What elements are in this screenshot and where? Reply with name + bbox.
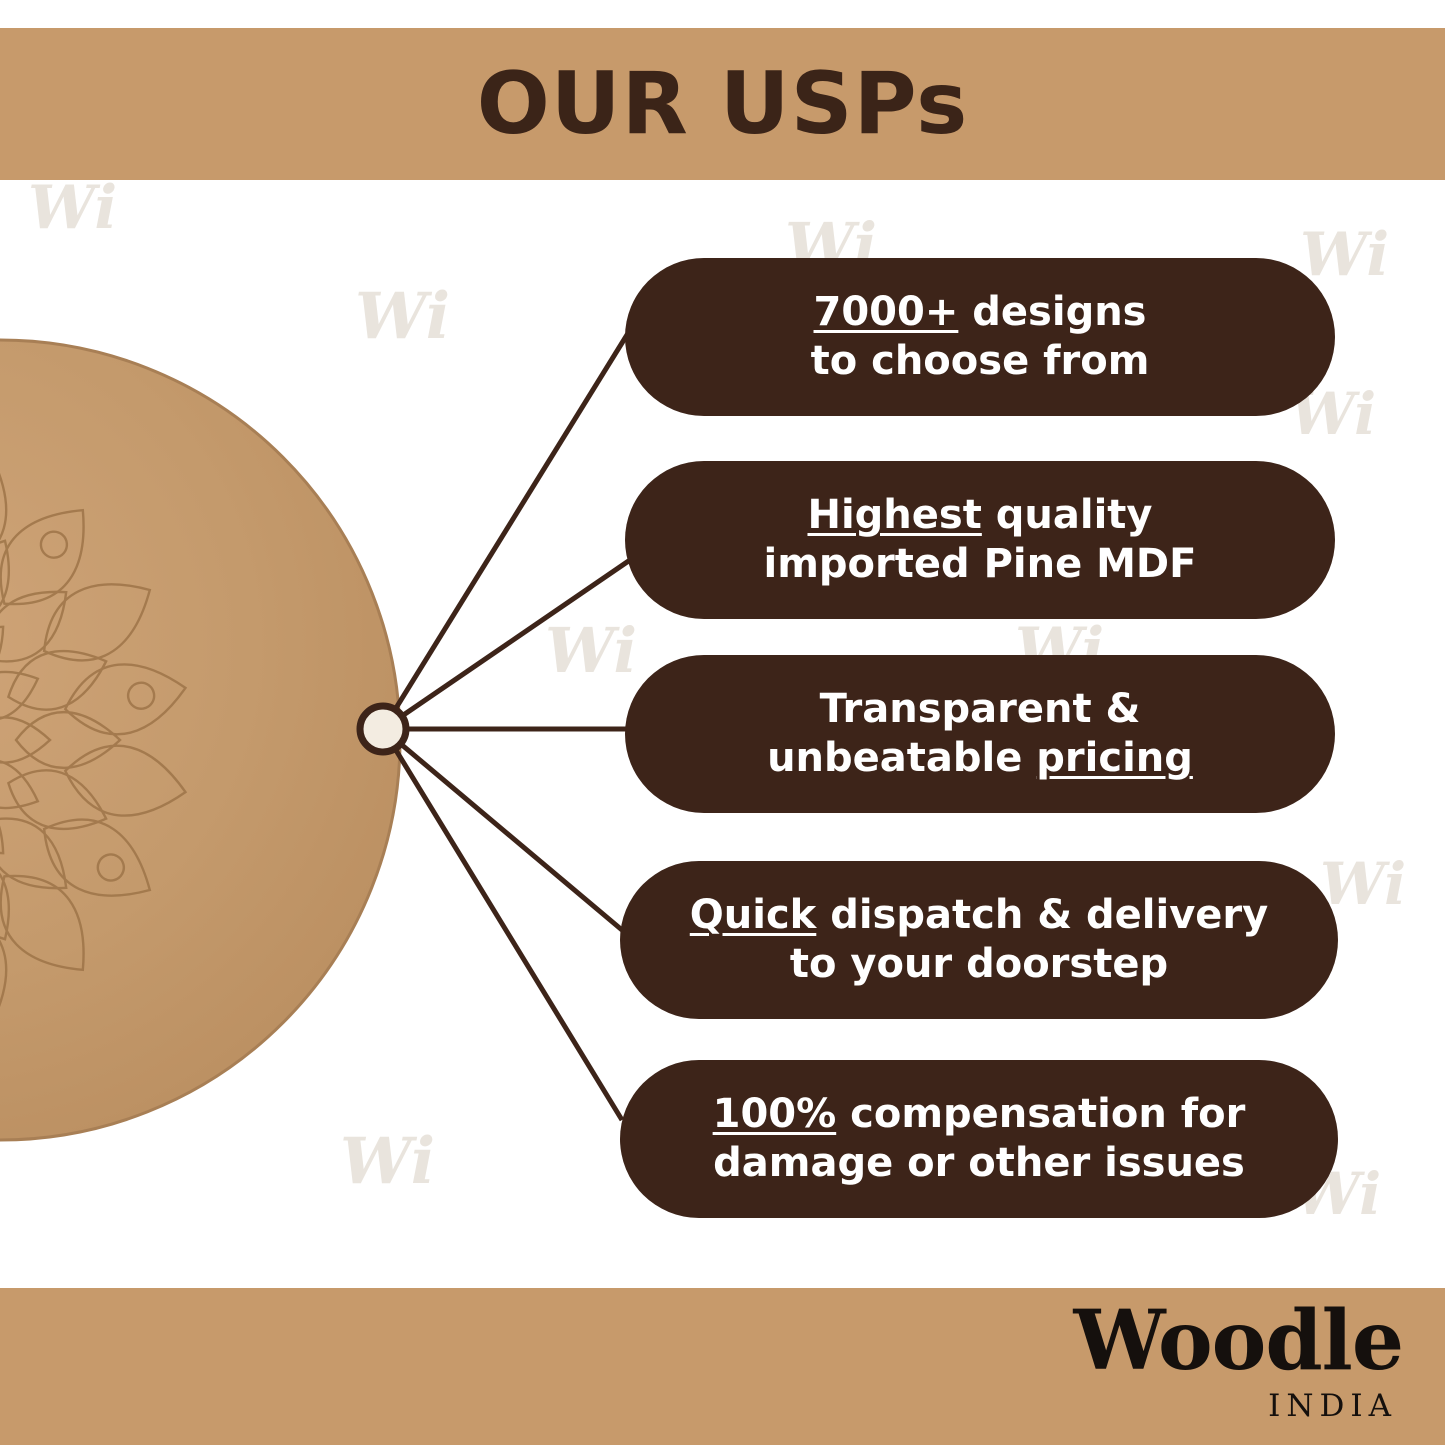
page-title: OUR USPs [0,28,1445,180]
usp-line-1: Highest quality [807,491,1152,540]
usp-line-2: unbeatable pricing [767,734,1193,783]
usp-line-2: to your doorstep [790,940,1168,989]
usp-line-1: 7000+ designs [814,288,1147,337]
usp-card-designs: 7000+ designs to choose from [625,258,1335,416]
brand-subtitle: INDIA [983,1388,1397,1424]
usp-infographic: Wi Wi Wi Wi Wi Wi Wi Wi Wi Wi [0,0,1445,1445]
usp-line-1: 100% compensation for [713,1090,1246,1139]
watermark: Wi [1300,225,1389,285]
brand-name: Woodle [983,1300,1403,1382]
usp-line-1: Transparent & [820,685,1141,734]
mandala-wood-disc [0,300,440,1180]
watermark: Wi [1320,855,1406,913]
brand-logo: Woodle INDIA [983,1300,1403,1432]
usp-card-compensation: 100% compensation for damage or other is… [620,1060,1338,1218]
usp-line-2: to choose from [811,337,1150,386]
usp-line-2: damage or other issues [713,1139,1245,1188]
usp-card-dispatch: Quick dispatch & delivery to your doorst… [620,861,1338,1019]
usp-line-1: Quick dispatch & delivery [690,891,1268,940]
watermark: Wi [545,620,637,682]
usp-card-pricing: Transparent & unbeatable pricing [625,655,1335,813]
mandala-disc-svg [0,300,440,1180]
usp-line-2: imported Pine MDF [764,540,1197,589]
usp-card-quality: Highest quality imported Pine MDF [625,461,1335,619]
watermark: Wi [28,178,117,238]
